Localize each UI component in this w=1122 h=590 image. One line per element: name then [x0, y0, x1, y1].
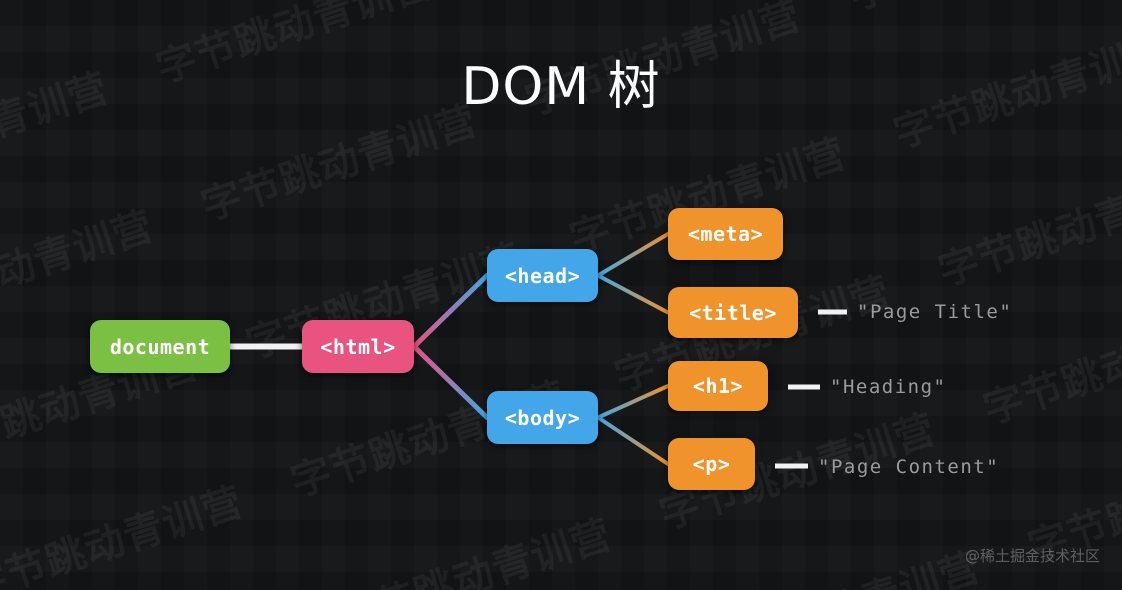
tree-node-meta[interactable]: <meta>: [668, 208, 783, 260]
tree-node-head[interactable]: <head>: [487, 249, 598, 302]
leaf-label-p-text: "Page Content": [818, 456, 999, 478]
dom-tree-diagram: document<html><head><body><meta><title><…: [0, 0, 1122, 590]
tree-node-label: <p>: [693, 452, 731, 476]
tree-node-label: <h1>: [693, 374, 743, 398]
tree-edge-head-title: [598, 276, 668, 313]
tree-edge-html-head: [414, 276, 487, 347]
tree-node-label: <body>: [505, 406, 580, 430]
source-credit: @稀土掘金技术社区: [965, 545, 1100, 566]
tree-edge-body-p: [598, 418, 668, 465]
tree-node-body[interactable]: <body>: [487, 391, 598, 444]
tree-node-label: <head>: [505, 264, 580, 288]
tree-node-document[interactable]: document: [90, 320, 230, 373]
leaf-label-h1-text: "Heading": [830, 376, 946, 398]
leaf-label-title-text: "Page Title": [857, 301, 1012, 323]
tree-node-title[interactable]: <title>: [668, 287, 798, 338]
tree-node-p[interactable]: <p>: [668, 438, 755, 490]
tree-node-label: <title>: [689, 301, 777, 325]
tree-node-label: <meta>: [688, 222, 763, 246]
tree-edge-body-h1: [598, 386, 668, 418]
tree-node-label: <html>: [320, 335, 395, 359]
slide-canvas: 字节跳动青训营字节跳动青训营字节跳动青训营字节跳动青训营字节跳动青训营字节跳动青…: [0, 0, 1122, 590]
tree-node-h1[interactable]: <h1>: [668, 361, 768, 411]
tree-node-label: document: [110, 335, 210, 359]
tree-node-html[interactable]: <html>: [302, 320, 414, 373]
tree-edge-html-body: [414, 347, 487, 418]
tree-edge-head-meta: [598, 234, 668, 276]
